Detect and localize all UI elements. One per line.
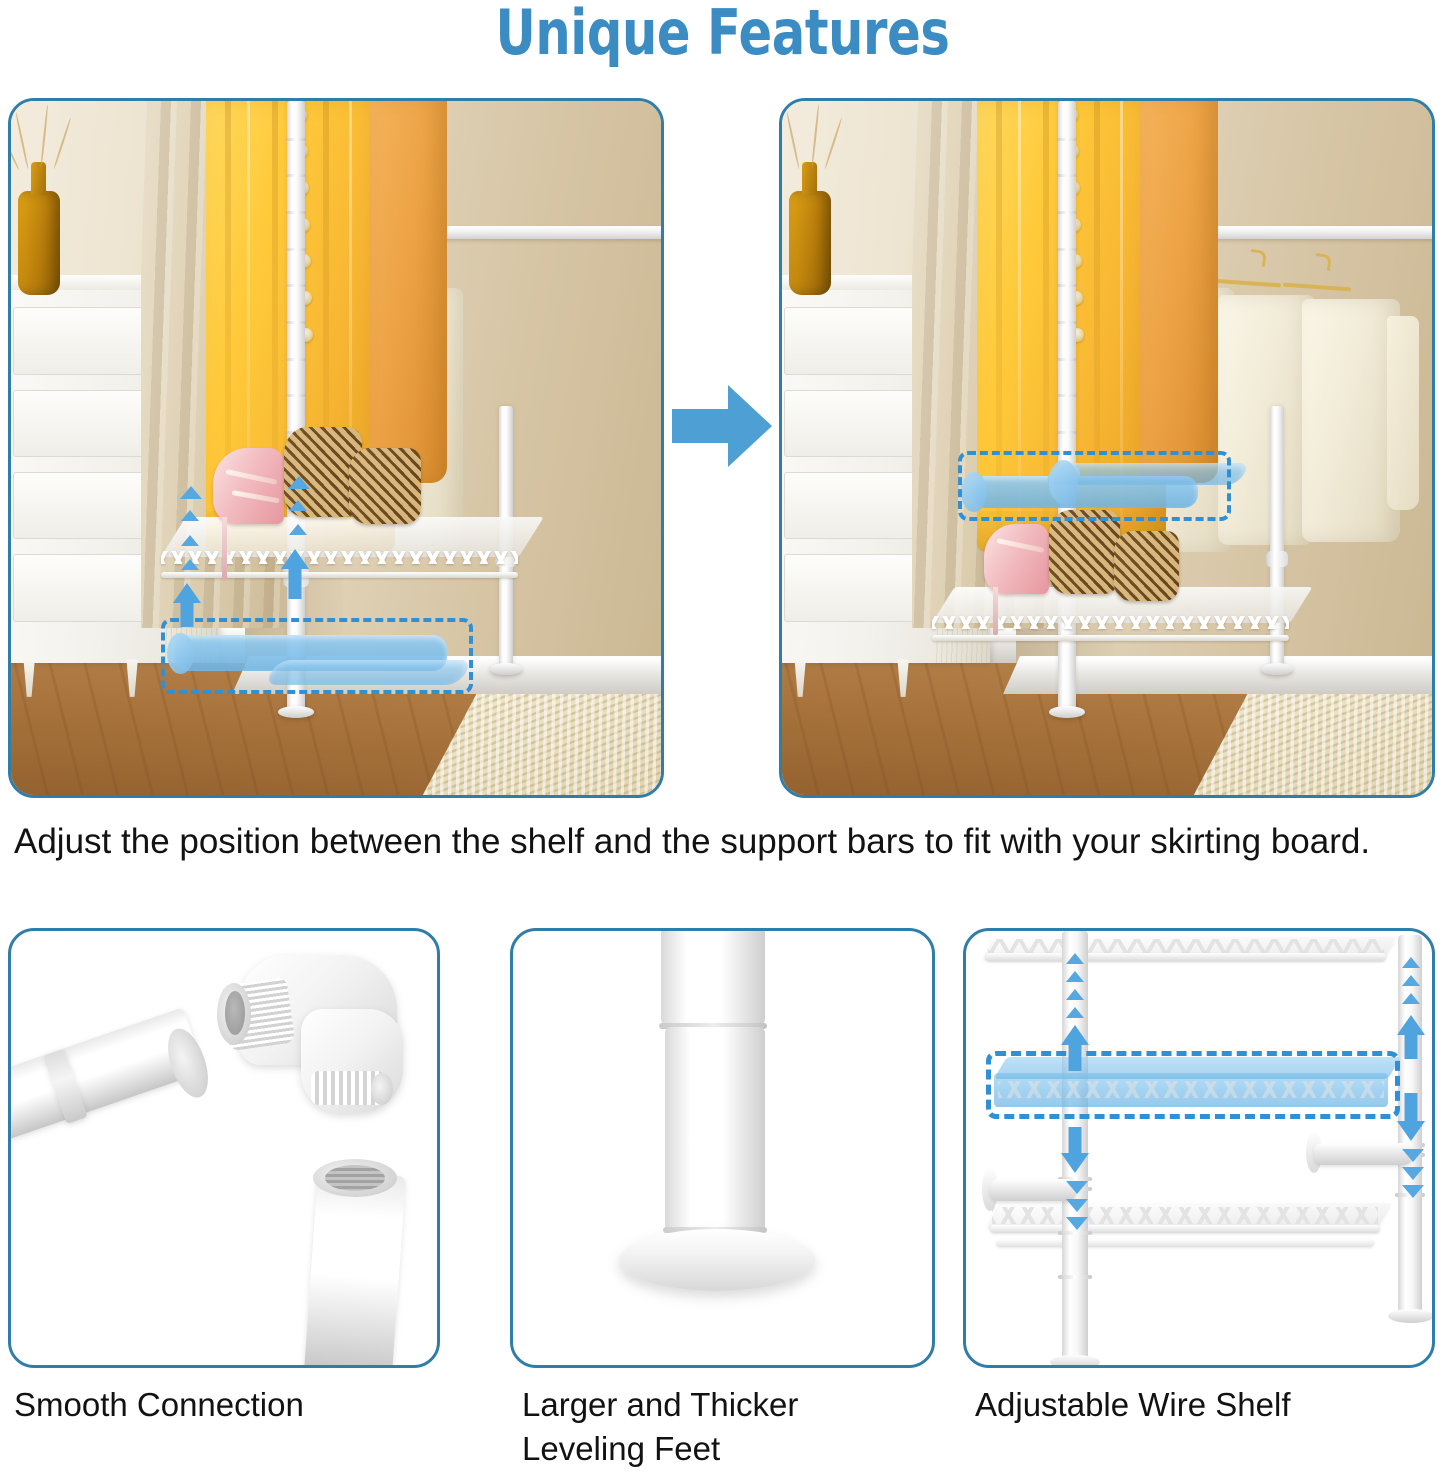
pole-foot [278,706,315,718]
orange-garment [369,101,447,483]
pole-foot [490,663,521,675]
post-foot-left [1050,1355,1100,1365]
after-scene [782,101,1432,795]
shelf-rail [986,953,1386,961]
motion-chevron-down [1402,1167,1424,1180]
sandal-shoe [1049,510,1121,593]
motion-arrow-down [1059,1127,1091,1173]
dresser-drawer [784,390,921,457]
motion-arrow-up [278,549,312,599]
shelf-zigzag-wire [161,551,519,564]
smooth-connection-art [11,931,437,1365]
support-bar-dashed-outline [161,618,473,694]
wire-shelf [161,517,519,593]
pole-foot [1049,706,1086,718]
leveling-foot-base [619,1229,815,1291]
caption-leveling-feet-line2: Leveling Feet [522,1427,942,1471]
vase-neck [802,162,817,195]
motion-chevron [1066,1007,1084,1018]
pole-lower-segment [665,1027,765,1231]
motion-chevron-down [1066,1199,1088,1212]
shelf-rail [990,1225,1380,1233]
support-bar-left [990,1179,1076,1201]
before-scene [11,101,661,795]
dresser-drawer [784,554,921,621]
heeled-shoe [213,448,285,524]
sandal-shoe [1114,531,1179,600]
motion-chevron [180,486,202,499]
caption-adjustable-wire-shelf: Adjustable Wire Shelf [975,1383,1435,1427]
dresser-drawer [13,472,150,539]
motion-chevron-down [1402,1149,1424,1162]
feature-panel-adjustable-wire-shelf [963,928,1435,1368]
motion-chevron [289,524,307,535]
hanging-shirt [1218,295,1316,545]
motion-chevron [289,500,307,511]
support-bar-right [1314,1143,1412,1165]
motion-arrow-up [170,583,204,627]
motion-chevron-down [1402,1185,1424,1198]
feature-panel-smooth-connection [8,928,440,1368]
infographic-page: Unique Features [0,0,1445,1478]
motion-chevron [181,559,199,570]
motion-chevron [1402,957,1420,968]
caption-leveling-feet-line1: Larger and Thicker [522,1383,942,1427]
pipe-tube-vertical [304,1170,406,1365]
pole-foot [1261,663,1292,675]
pole-upper-segment [661,931,765,1025]
adjustable-shelf-dashed-outline [986,1051,1400,1119]
vase-neck [31,162,46,195]
motion-chevron [288,476,310,489]
dresser-drawer [13,554,150,621]
motion-arrow-up [1395,1015,1427,1059]
decorative-vase [789,191,831,295]
motion-chevron [1066,989,1084,1000]
sandal-shoe [349,448,421,524]
elbow-lower-rim [371,1073,393,1105]
shirt-sleeve [1387,316,1420,510]
shelf-rail-lower [996,1239,1374,1247]
dresser-drawer [784,472,921,539]
support-bar-dashed-outline [958,451,1231,520]
main-caption: Adjust the position between the shelf an… [14,818,1414,865]
motion-chevron [181,510,199,521]
decorative-vase [18,191,60,295]
shelf-zigzag-wire [992,1207,1378,1224]
motion-arrow-up [1059,1025,1091,1071]
motion-arrow-down [1395,1093,1427,1141]
transition-arrow-right [672,385,770,467]
dresser-drawer [13,390,150,457]
motion-chevron-down [1066,1217,1088,1230]
motion-chevron [181,535,199,546]
shoe-heel-spike [993,587,998,636]
pipe-female-thread [325,1165,385,1191]
leveling-feet-art [513,931,932,1365]
wire-shelf [932,587,1290,656]
shelf-zigzag-wire [932,616,1290,629]
hanging-shirt [1302,299,1400,542]
shelf-front-rail [161,572,519,578]
after-state-panel [779,98,1435,798]
caption-smooth-connection: Smooth Connection [14,1383,434,1427]
motion-chevron [1066,971,1084,982]
motion-chevron [1402,993,1420,1004]
motion-chevron-down [1066,1181,1088,1194]
post-foot-right [1388,1309,1432,1323]
shelf-front-rail [932,635,1290,641]
elbow-bore [225,991,245,1035]
feature-panel-leveling-feet [510,928,935,1368]
before-state-panel [8,98,664,798]
page-title: Unique Features [145,0,1301,69]
motion-chevron [1066,953,1084,964]
orange-garment [1140,101,1218,483]
dresser-drawer [784,307,921,374]
adjustable-wire-shelf-art [966,931,1432,1365]
heeled-shoe [984,524,1049,593]
motion-chevron [1402,975,1420,986]
dresser-drawer [13,307,150,374]
shoe-heel-spike [222,517,227,579]
